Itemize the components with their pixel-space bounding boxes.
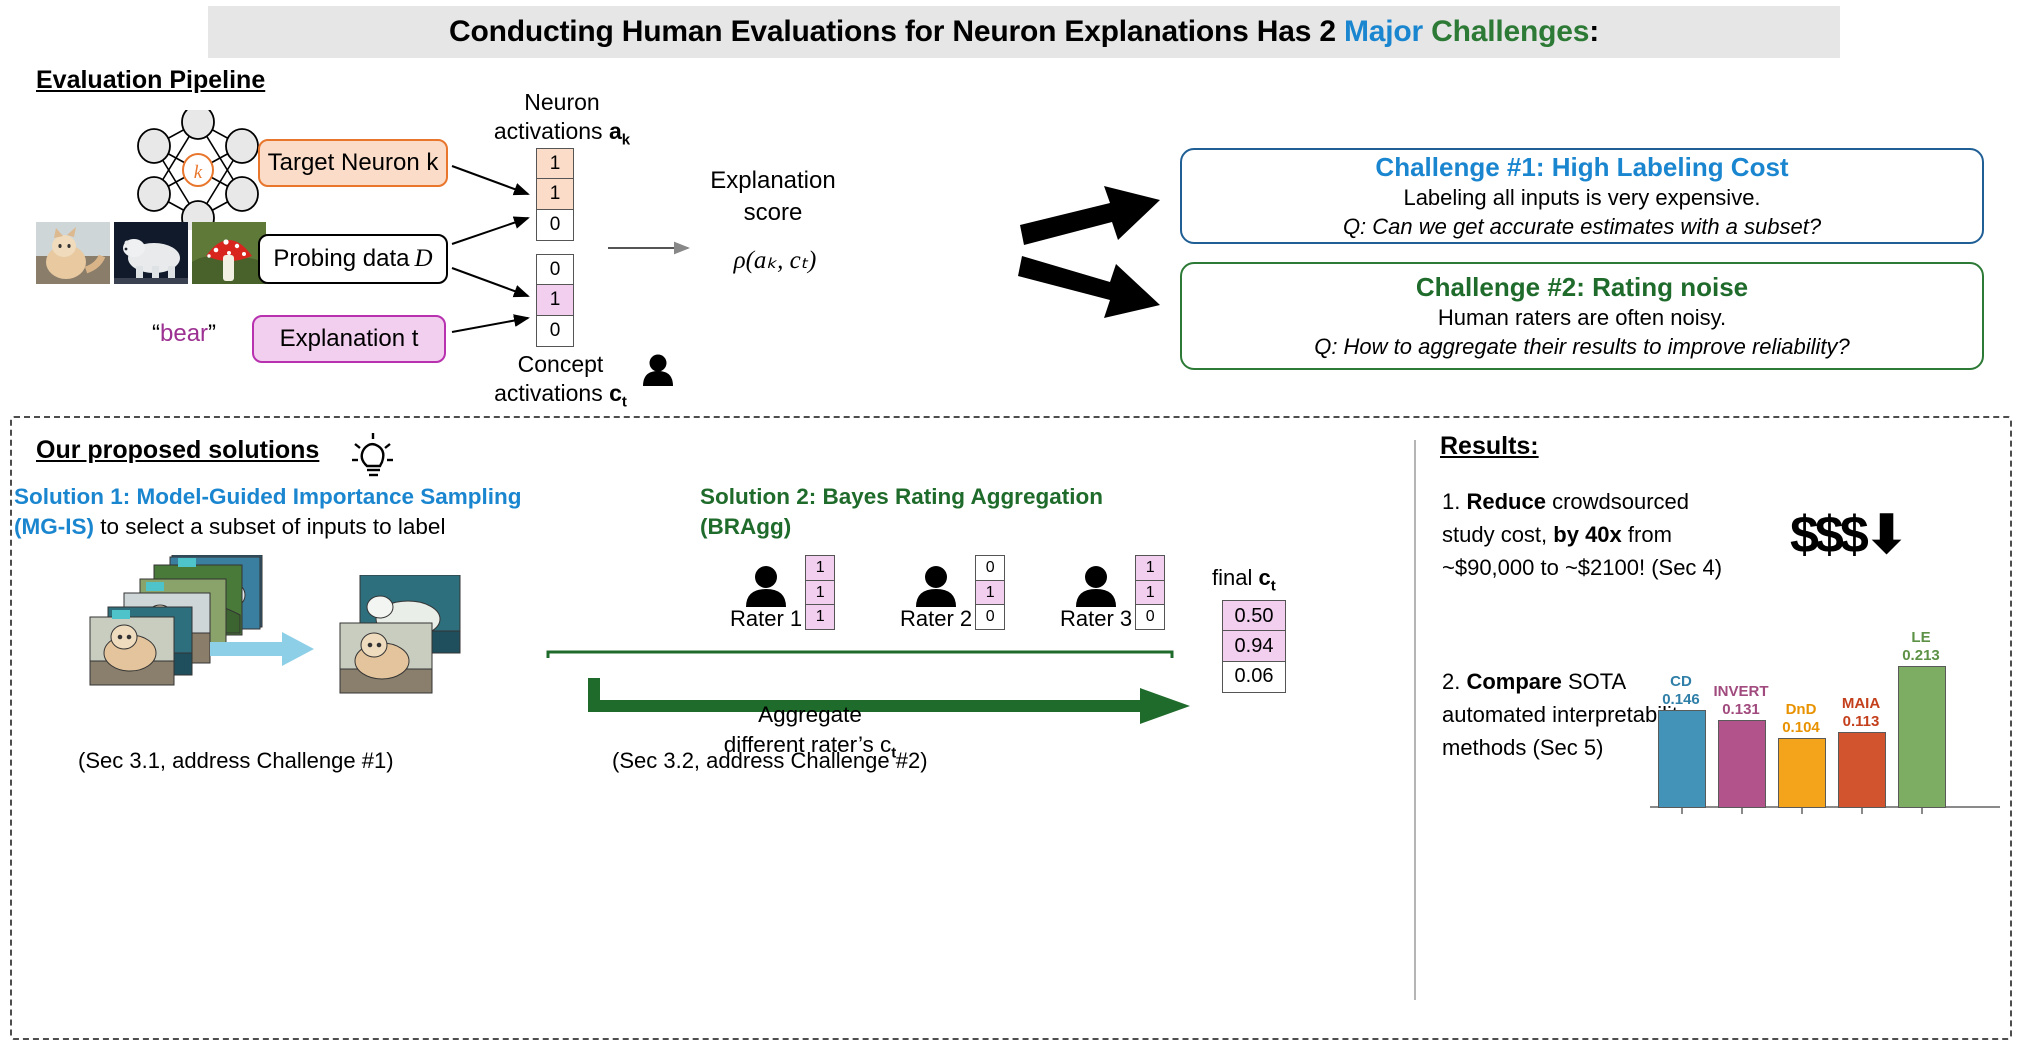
final-label-word: final <box>1212 565 1258 590</box>
input-image-stack-subset <box>320 575 540 705</box>
result-1-bold1: Reduce <box>1466 489 1545 514</box>
result-item-1: 1. Reduce crowdsourced study cost, by 40… <box>1442 485 1742 584</box>
title-banner: Conducting Human Evaluations for Neuron … <box>208 6 1840 58</box>
person-icon <box>640 353 676 387</box>
chart-tick <box>1801 808 1803 814</box>
bar-category: LE <box>1884 629 1958 647</box>
result-1-bold2: by 40x <box>1553 522 1622 547</box>
rater-cell: 1 <box>805 604 835 630</box>
explanation-box[interactable]: Explanation t <box>252 315 446 363</box>
final-ct-column: 0.50 0.94 0.06 <box>1222 600 1286 693</box>
rater-3-group: Rater 3 1 1 0 <box>1060 555 1165 630</box>
activation-cell: 0 <box>536 209 574 241</box>
bar-value: 0.213 <box>1884 647 1958 665</box>
final-cell: 0.94 <box>1222 630 1286 662</box>
concept-act-line2: activations <box>494 380 603 406</box>
explanation-score-label: Explanation score <box>688 165 858 229</box>
concept-act-sub: t <box>622 394 627 411</box>
final-label-symbol: c <box>1258 565 1270 590</box>
evaluation-pipeline-heading: Evaluation Pipeline <box>36 66 265 95</box>
result-1-num: 1. <box>1442 489 1466 514</box>
quote-close: ” <box>208 320 216 347</box>
bar-label-maia: MAIA0.113 <box>1824 695 1898 731</box>
challenge-1-title: Challenge #1: High Labeling Cost <box>1182 151 1982 183</box>
solution-1-rest: to select a subset of inputs to label <box>94 514 445 539</box>
bar-label-le: LE0.213 <box>1884 629 1958 665</box>
aggregate-line1: Aggregate <box>645 700 975 730</box>
exp-score-line1: Explanation <box>688 165 858 197</box>
challenge-1-box: Challenge #1: High Labeling Cost Labelin… <box>1180 148 1984 244</box>
bar-category: MAIA <box>1824 695 1898 713</box>
results-bar-chart: CD0.146INVERT0.131DnD0.104MAIA0.113LE0.2… <box>1650 615 2000 830</box>
rater-2-label: Rater 2 <box>900 608 972 630</box>
bar-value: 0.113 <box>1824 713 1898 731</box>
final-label-sub: t <box>1271 577 1276 594</box>
aggregate-line2: different rater’s c <box>724 732 892 757</box>
rater-cell: 1 <box>1135 555 1165 581</box>
challenge-2-line: Human raters are often noisy. <box>1182 303 1982 332</box>
concept-cell: 0 <box>536 315 574 347</box>
neuron-act-line1: Neuron <box>476 88 648 117</box>
solution-1-line1: Solution 1: Model-Guided Importance Samp… <box>14 482 574 512</box>
title-space <box>1423 15 1431 48</box>
neuron-act-symbol: a <box>609 118 622 144</box>
rater-1-label: Rater 1 <box>730 608 802 630</box>
thumbnail-cat <box>36 222 110 284</box>
rater-3-label: Rater 3 <box>1060 608 1132 630</box>
mgis-arrow-icon <box>210 630 320 670</box>
challenge-2-box: Challenge #2: Rating noise Human raters … <box>1180 262 1984 370</box>
concept-act-line1: Concept <box>468 350 653 379</box>
rater-cell: 1 <box>1135 580 1165 606</box>
bear-word: bear <box>160 320 208 347</box>
probing-data-thumbnails <box>36 222 266 284</box>
bar-dnd <box>1778 738 1826 808</box>
neuron-activations-label: Neuron activations ak <box>476 88 648 155</box>
concept-activations-column: 0 1 0 <box>536 254 574 347</box>
bar-invert <box>1718 720 1766 808</box>
activation-cell: 1 <box>536 148 574 180</box>
bear-quote-label: “bear” <box>152 320 216 348</box>
our-solutions-heading: Our proposed solutions <box>36 436 319 465</box>
results-divider <box>1414 440 1416 1000</box>
person-icon <box>909 564 963 608</box>
result-2-bold1: Compare <box>1466 669 1561 694</box>
challenge-1-question: Q: Can we get accurate estimates with a … <box>1182 212 1982 241</box>
aggregate-sub: t <box>891 745 896 762</box>
neuron-activations-column: 1 1 0 <box>536 148 574 241</box>
rater-cell: 0 <box>1135 604 1165 630</box>
neuron-act-sub: k <box>622 132 630 149</box>
title-major: Major <box>1344 15 1423 48</box>
bar-cd <box>1658 710 1706 808</box>
person-icon <box>1069 564 1123 608</box>
challenge-2-title: Challenge #2: Rating noise <box>1182 271 1982 303</box>
concept-activations-label: Concept activations ct <box>468 350 653 417</box>
thumbnail-mushroom <box>192 222 266 284</box>
chart-tick <box>1681 808 1683 814</box>
challenge-2-question: Q: How to aggregate their results to imp… <box>1182 332 1982 361</box>
exp-score-line2: score <box>688 197 858 229</box>
final-ct-label: final ct <box>1212 565 1276 594</box>
rater-cell: 1 <box>805 555 835 581</box>
solution-1-line2: (MG-IS) <box>14 514 94 539</box>
aggregate-label: Aggregate different rater’s ct <box>645 700 975 769</box>
bar-maia <box>1838 732 1886 808</box>
person-icon <box>739 564 793 608</box>
rater-cell: 1 <box>975 580 1005 606</box>
final-cell: 0.06 <box>1222 661 1286 693</box>
probing-data-symbol: D <box>410 245 433 273</box>
chart-tick <box>1861 808 1863 814</box>
concept-cell: 0 <box>536 254 574 286</box>
rater-cell: 0 <box>975 604 1005 630</box>
concept-cell: 1 <box>536 284 574 316</box>
rater-cell: 1 <box>805 580 835 606</box>
page-title: Conducting Human Evaluations for Neuron … <box>449 15 1599 49</box>
neuron-act-line2: activations <box>494 118 603 144</box>
solution-1-text: Solution 1: Model-Guided Importance Samp… <box>14 482 574 542</box>
title-colon: : <box>1589 15 1599 48</box>
probing-data-box[interactable]: Probing dataD <box>258 234 448 284</box>
concept-act-symbol: c <box>609 380 622 406</box>
activation-cell: 1 <box>536 178 574 210</box>
challenge-1-line: Labeling all inputs is very expensive. <box>1182 183 1982 212</box>
money-down-icon: $$$⬇ <box>1790 505 1904 565</box>
neural-network-icon: k <box>128 110 268 230</box>
solution-2-line1: Solution 2: Bayes Rating Aggregation <box>700 482 1140 512</box>
solution-1-caption: (Sec 3.1, address Challenge #1) <box>78 748 394 774</box>
solution-2-text: Solution 2: Bayes Rating Aggregation (BR… <box>700 482 1140 542</box>
title-main: Conducting Human Evaluations for Neuron … <box>449 15 1344 48</box>
solution-2-line2: (BRAgg) <box>700 512 1140 542</box>
bar-category: INVERT <box>1704 683 1778 701</box>
thumbnail-polar-bear <box>114 222 188 284</box>
chart-tick <box>1741 808 1743 814</box>
results-heading: Results: <box>1440 432 1539 461</box>
probing-data-label: Probing data <box>273 245 409 273</box>
target-neuron-box[interactable]: Target Neuron k <box>258 139 448 187</box>
rater-1-group: Rater 1 1 1 1 <box>730 555 835 630</box>
rater-2-group: Rater 2 0 1 0 <box>900 555 1005 630</box>
bar-le <box>1898 666 1946 808</box>
final-cell: 0.50 <box>1222 600 1286 632</box>
quote-open: “ <box>152 320 160 347</box>
svg-text:k: k <box>194 162 203 183</box>
title-challenges: Challenges <box>1431 15 1589 48</box>
rater-cell: 0 <box>975 555 1005 581</box>
lightbulb-icon <box>350 432 396 484</box>
explanation-score-formula: ρ(aₖ, cₜ) <box>700 245 850 275</box>
chart-tick <box>1921 808 1923 814</box>
result-2-num: 2. <box>1442 669 1466 694</box>
